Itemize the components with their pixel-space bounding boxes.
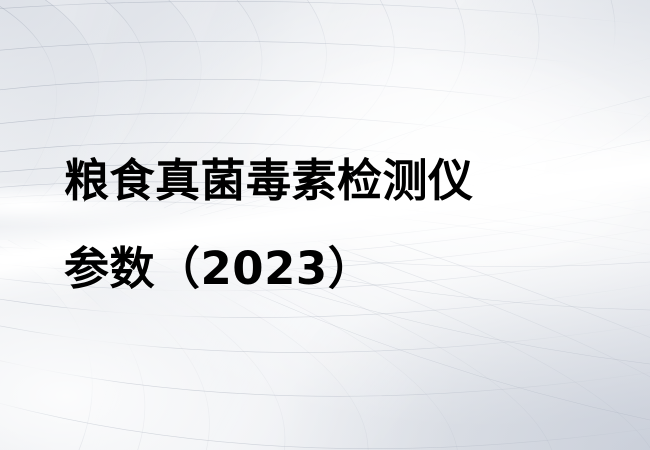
title-banner: 粮食真菌毒素检测仪 参数（2023）	[0, 0, 650, 450]
headline-line-1: 粮食真菌毒素检测仪	[64, 137, 584, 225]
banner-headline: 粮食真菌毒素检测仪 参数（2023）	[64, 137, 584, 313]
headline-line-2: 参数（2023）	[64, 225, 584, 313]
